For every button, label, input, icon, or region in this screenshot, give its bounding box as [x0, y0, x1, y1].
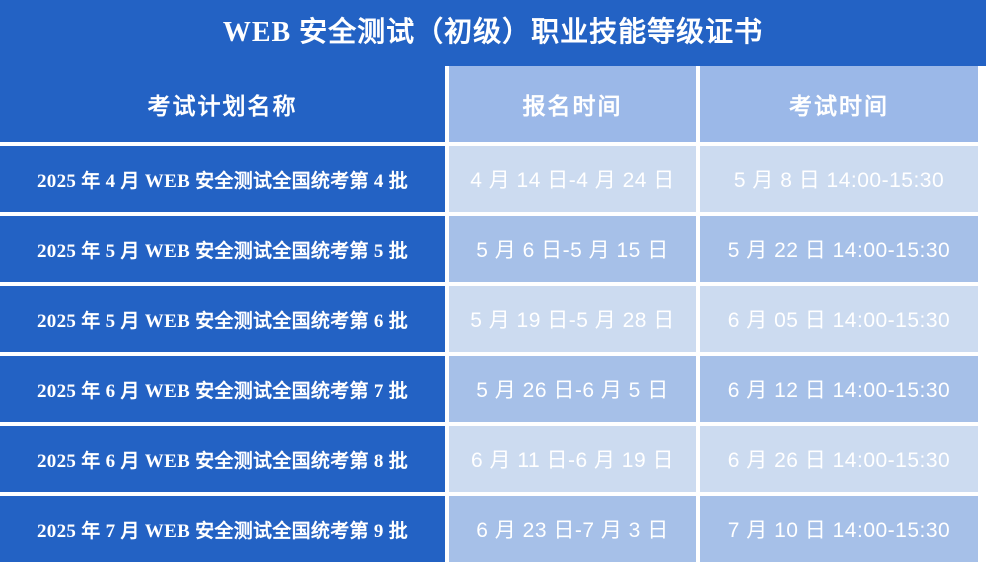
cell-exam-time-label: 5 月 8 日 14:00-15:30 — [734, 164, 944, 194]
cell-registration-time-label: 4 月 14 日-4 月 24 日 — [470, 164, 675, 194]
cell-registration-time: 6 月 11 日-6 月 19 日 — [445, 422, 696, 492]
cell-plan-name-label: 2025 年 5 月 WEB 安全测试全国统考第 5 批 — [37, 236, 408, 263]
page-title: WEB 安全测试（初级）职业技能等级证书 — [223, 19, 763, 47]
cell-exam-time: 6 月 05 日 14:00-15:30 — [696, 282, 978, 352]
cell-exam-time-label: 5 月 22 日 14:00-15:30 — [728, 234, 950, 264]
cell-exam-time: 5 月 22 日 14:00-15:30 — [696, 212, 978, 282]
cell-registration-time-label: 5 月 19 日-5 月 28 日 — [470, 304, 675, 334]
certificate-exam-schedule-poster: WEB 安全测试（初级）职业技能等级证书 考试计划名称 报名时间 考试时间 20… — [0, 0, 986, 560]
table-row: 2025 年 5 月 WEB 安全测试全国统考第 5 批 5 月 6 日-5 月… — [0, 212, 978, 282]
cell-plan-name: 2025 年 5 月 WEB 安全测试全国统考第 5 批 — [0, 212, 445, 282]
cell-registration-time: 6 月 23 日-7 月 3 日 — [445, 492, 696, 562]
cell-registration-time: 4 月 14 日-4 月 24 日 — [445, 142, 696, 212]
cell-exam-time-label: 6 月 05 日 14:00-15:30 — [728, 304, 950, 334]
table-row: 2025 年 4 月 WEB 安全测试全国统考第 4 批 4 月 14 日-4 … — [0, 142, 978, 212]
cell-plan-name-label: 2025 年 6 月 WEB 安全测试全国统考第 8 批 — [37, 446, 408, 473]
cell-plan-name: 2025 年 4 月 WEB 安全测试全国统考第 4 批 — [0, 142, 445, 212]
cell-registration-time-label: 5 月 6 日-5 月 15 日 — [476, 234, 668, 264]
cell-plan-name-label: 2025 年 6 月 WEB 安全测试全国统考第 7 批 — [37, 376, 408, 403]
column-header-registration-time-label: 报名时间 — [523, 87, 623, 121]
cell-exam-time-label: 7 月 10 日 14:00-15:30 — [728, 514, 950, 544]
cell-exam-time: 6 月 12 日 14:00-15:30 — [696, 352, 978, 422]
cell-plan-name-label: 2025 年 4 月 WEB 安全测试全国统考第 4 批 — [37, 166, 408, 193]
column-header-exam-time: 考试时间 — [696, 66, 978, 142]
cell-registration-time: 5 月 19 日-5 月 28 日 — [445, 282, 696, 352]
poster-title-bar: WEB 安全测试（初级）职业技能等级证书 — [0, 0, 986, 66]
cell-registration-time-label: 6 月 11 日-6 月 19 日 — [471, 444, 674, 474]
cell-exam-time-label: 6 月 12 日 14:00-15:30 — [728, 374, 950, 404]
cell-plan-name-label: 2025 年 5 月 WEB 安全测试全国统考第 6 批 — [37, 306, 408, 333]
table-row: 2025 年 5 月 WEB 安全测试全国统考第 6 批 5 月 19 日-5 … — [0, 282, 978, 352]
column-header-exam-time-label: 考试时间 — [789, 87, 889, 121]
cell-exam-time: 5 月 8 日 14:00-15:30 — [696, 142, 978, 212]
cell-exam-time: 6 月 26 日 14:00-15:30 — [696, 422, 978, 492]
column-header-registration-time: 报名时间 — [445, 66, 696, 142]
cell-plan-name-label: 2025 年 7 月 WEB 安全测试全国统考第 9 批 — [37, 516, 408, 543]
cell-registration-time-label: 5 月 26 日-6 月 5 日 — [476, 374, 668, 404]
cell-plan-name: 2025 年 6 月 WEB 安全测试全国统考第 7 批 — [0, 352, 445, 422]
cell-registration-time: 5 月 26 日-6 月 5 日 — [445, 352, 696, 422]
table-header-row: 考试计划名称 报名时间 考试时间 — [0, 66, 978, 142]
exam-schedule-table: 考试计划名称 报名时间 考试时间 2025 年 4 月 WEB 安全测试全国统考… — [0, 66, 986, 560]
cell-registration-time: 5 月 6 日-5 月 15 日 — [445, 212, 696, 282]
column-header-plan-name-label: 考试计划名称 — [148, 87, 298, 121]
table-row: 2025 年 6 月 WEB 安全测试全国统考第 7 批 5 月 26 日-6 … — [0, 352, 978, 422]
cell-registration-time-label: 6 月 23 日-7 月 3 日 — [476, 514, 668, 544]
cell-exam-time-label: 6 月 26 日 14:00-15:30 — [728, 444, 950, 474]
cell-exam-time: 7 月 10 日 14:00-15:30 — [696, 492, 978, 562]
table-row: 2025 年 6 月 WEB 安全测试全国统考第 8 批 6 月 11 日-6 … — [0, 422, 978, 492]
cell-plan-name: 2025 年 5 月 WEB 安全测试全国统考第 6 批 — [0, 282, 445, 352]
cell-plan-name: 2025 年 6 月 WEB 安全测试全国统考第 8 批 — [0, 422, 445, 492]
table-row: 2025 年 7 月 WEB 安全测试全国统考第 9 批 6 月 23 日-7 … — [0, 492, 978, 562]
column-header-plan-name: 考试计划名称 — [0, 66, 445, 142]
cell-plan-name: 2025 年 7 月 WEB 安全测试全国统考第 9 批 — [0, 492, 445, 562]
